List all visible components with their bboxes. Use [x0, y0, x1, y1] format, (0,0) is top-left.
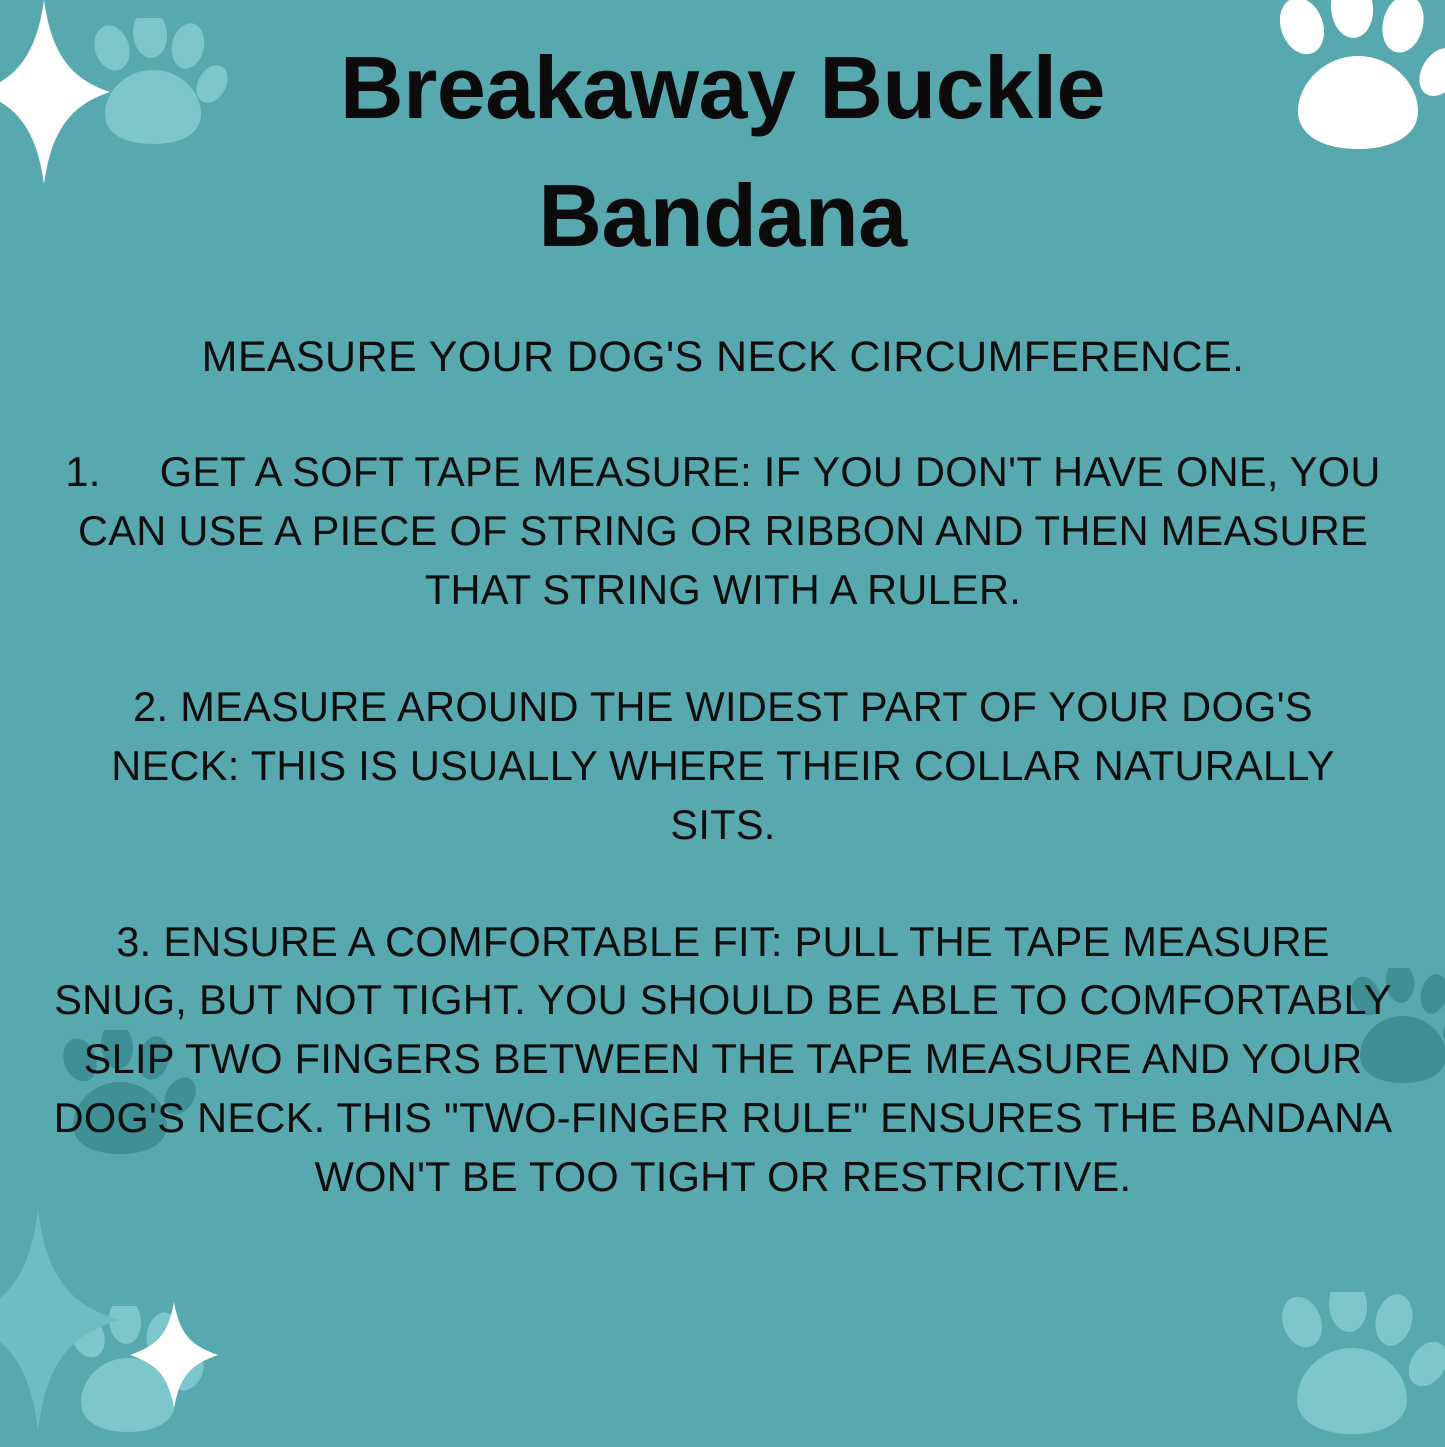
poster-canvas: Breakaway Buckle Bandana MEASURE YOUR DO…: [0, 0, 1445, 1445]
step-2-text: MEASURE AROUND THE WIDEST PART OF YOUR D…: [111, 683, 1334, 848]
sparkle-icon: [128, 1300, 220, 1410]
step-3-text: ENSURE A COMFORTABLE FIT: PULL THE TAPE …: [54, 918, 1393, 1201]
step-3-number: 3.: [116, 918, 151, 965]
sparkle-icon: [0, 1210, 120, 1445]
paw-print-icon: [1272, 1292, 1445, 1447]
paw-print-icon: [60, 1306, 210, 1446]
lead-instruction: MEASURE YOUR DOG'S NECK CIRCUMFERENCE.: [38, 330, 1408, 385]
step-1-number: 1.: [65, 448, 100, 495]
step-2: 2. MEASURE AROUND THE WIDEST PART OF YOU…: [38, 678, 1408, 855]
step-2-number: 2.: [133, 683, 168, 730]
step-1: 1. GET A SOFT TAPE MEASURE: IF YOU DON'T…: [38, 443, 1408, 620]
step-1-text: GET A SOFT TAPE MEASURE: IF YOU DON'T HA…: [78, 448, 1381, 613]
instructions-block: MEASURE YOUR DOG'S NECK CIRCUMFERENCE. 1…: [38, 330, 1408, 1207]
page-title-line-1: Breakaway Buckle: [0, 24, 1445, 152]
page-title-line-2: Bandana: [0, 152, 1445, 280]
step-3: 3. ENSURE A COMFORTABLE FIT: PULL THE TA…: [38, 913, 1408, 1208]
page-title: Breakaway Buckle Bandana: [0, 24, 1445, 279]
